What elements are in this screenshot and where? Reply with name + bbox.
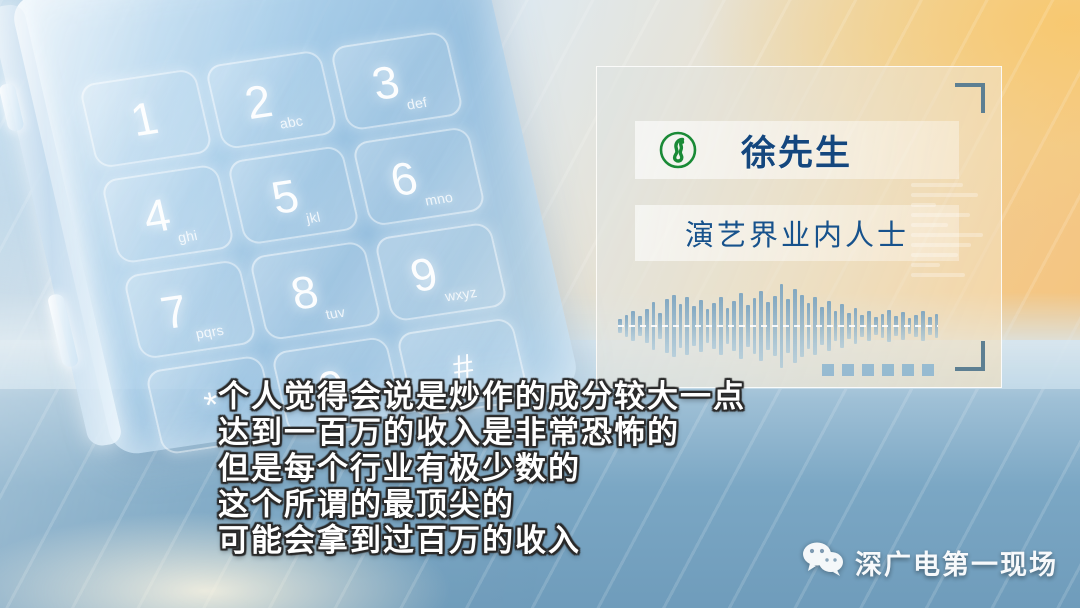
subtitle-line: 但是每个行业有极少数的	[218, 454, 746, 484]
waveform-center-line	[618, 325, 938, 327]
subtitle-line: 可能会拿到过百万的收入	[218, 526, 746, 556]
caller-role-row: 演艺界业内人士	[635, 205, 959, 261]
caller-name: 徐先生	[741, 125, 852, 176]
caller-name-row: 徐先生	[635, 121, 959, 179]
subtitle-line: 个人觉得会说是炒作的成分较大一点	[218, 382, 746, 412]
waveform-dot	[922, 364, 934, 376]
waveform-dot	[882, 364, 894, 376]
watermark-text: 深广电第一现场	[855, 543, 1058, 582]
subtitle-block: 个人觉得会说是炒作的成分较大一点 达到一百万的收入是非常恐怖的 但是每个行业有极…	[218, 382, 746, 562]
waveform-dot	[842, 364, 854, 376]
corner-bracket-bottom-right-icon	[955, 341, 985, 371]
wechat-icon	[801, 541, 855, 584]
waveform-dot	[862, 364, 874, 376]
subtitle-line: 达到一百万的收入是非常恐怖的	[218, 418, 746, 448]
waveform-dot	[902, 364, 914, 376]
caller-role: 演艺界业内人士	[685, 212, 909, 254]
subtitle-line: 这个所谓的最顶尖的	[218, 490, 746, 520]
corner-bracket-top-right-icon	[955, 83, 985, 113]
video-frame: 1 2abc 3def 4ghi 5jkl 6mno 7pqrs 8tuv 9w…	[0, 0, 1080, 608]
waveform-dot	[822, 364, 834, 376]
phone-handset-circle-icon	[657, 129, 699, 171]
channel-watermark: 深广电第一现场	[801, 541, 1058, 584]
waveform-indicator-dots	[822, 364, 934, 376]
